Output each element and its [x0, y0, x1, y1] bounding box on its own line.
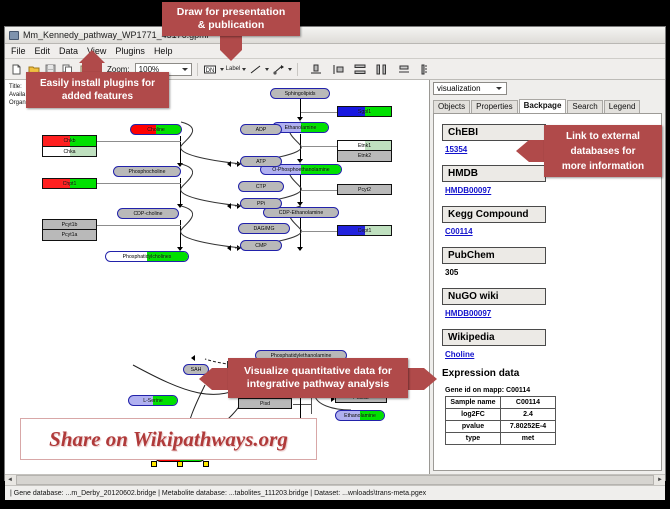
node-label: PPi [257, 201, 265, 207]
gene-link-sgpl1 [301, 112, 337, 113]
menu-edit[interactable]: Edit [34, 46, 52, 56]
node-phosphocholine[interactable]: Phosphocholine [113, 166, 181, 177]
node-ppi[interactable]: PPi [240, 198, 282, 209]
node-label: DAG/MG [253, 226, 274, 232]
menu-file[interactable]: File [10, 46, 27, 56]
node-label: CMP [255, 243, 267, 249]
align-left-icon[interactable] [330, 62, 345, 77]
stack-icon[interactable] [396, 62, 411, 77]
callout-draw-line2: & publication [198, 19, 265, 32]
callout-link-line2: databases for [570, 144, 635, 159]
tab-properties[interactable]: Properties [471, 100, 517, 113]
backpage-link-wikipedia[interactable]: Choline [445, 350, 661, 359]
scroll-thumb[interactable] [16, 475, 654, 485]
arrowhead [191, 355, 195, 361]
menu-data[interactable]: Data [58, 46, 79, 56]
node-dag-mg[interactable]: DAG/MG [238, 223, 290, 234]
cell-key: pvalue [446, 421, 501, 433]
gene-link-cept1 [301, 231, 337, 232]
meta-availability: Availa [9, 91, 27, 99]
node-etnk2[interactable]: Etnk2 [337, 151, 392, 162]
callout-link-line1: Link to external [566, 129, 640, 144]
status-bar: | Gene database: ...m_Derby_20120602.bri… [5, 485, 665, 500]
node-label: Phosphatidylcholines [123, 254, 172, 260]
backpage-heading-pubchem: PubChem [442, 247, 546, 264]
node-choline-top[interactable]: Choline [130, 124, 182, 135]
cell-value: met [501, 433, 556, 445]
node-label: Pisd [260, 401, 270, 407]
node-label: L-Serine [143, 398, 163, 404]
chevron-down-icon[interactable] [182, 68, 188, 71]
node-atp[interactable]: ATP [240, 156, 282, 167]
node-label: Etnk1 [358, 143, 371, 149]
node-phosphatidylcholines[interactable]: Phosphatidylcholines [105, 251, 189, 262]
callout-visualize: Visualize quantitative data for integrat… [228, 358, 408, 398]
callout-plugins-line1: Easily install plugins for [40, 77, 155, 90]
node-label: Phosphocholine [129, 169, 166, 175]
node-label: Sgpl1 [358, 109, 371, 115]
node-label: Chka [63, 149, 75, 155]
gene-link-chk [97, 141, 181, 142]
callout-draw-arrow [220, 50, 242, 61]
callout-plugins-arrow [79, 50, 105, 63]
node-pcyt1a[interactable]: Pcyt1a [42, 230, 97, 241]
meta-organism: Organi [9, 99, 27, 107]
expression-table: Sample name C00114 log2FC 2.4 pvalue 7.8… [445, 396, 556, 445]
callout-visualize-line2: integrative pathway analysis [247, 378, 389, 391]
node-label: ATP [256, 159, 266, 165]
backpage-link-nugo[interactable]: HMDB00097 [445, 309, 661, 318]
node-etnk1[interactable]: Etnk1 [337, 140, 392, 151]
node-chkb[interactable]: Chkb [42, 135, 97, 146]
tab-search[interactable]: Search [567, 100, 602, 113]
callout-visualize-stem-right [406, 368, 424, 390]
node-label: Chkb [63, 138, 75, 144]
node-label: CTP [256, 184, 266, 190]
node-chpt1[interactable]: Chpt1 [42, 178, 97, 189]
align-top-icon[interactable] [308, 62, 323, 77]
svg-text:DN: DN [206, 68, 215, 74]
node-label: Chpt1 [63, 181, 77, 187]
pisd-link [293, 404, 311, 405]
meta-title: Title: [9, 83, 27, 91]
group-icon[interactable] [418, 62, 433, 77]
node-label: Choline [147, 127, 165, 133]
cell-key: type [446, 433, 501, 445]
callout-plugins-line2: added features [62, 90, 133, 103]
selection-handle[interactable] [151, 461, 157, 467]
node-ctp[interactable]: CTP [238, 181, 284, 192]
callout-link-arrow [516, 140, 529, 162]
node-label: Pcyt1a [62, 232, 78, 238]
visualization-value: visualization [437, 84, 481, 93]
tab-legend[interactable]: Legend [604, 100, 641, 113]
table-row: log2FC 2.4 [446, 409, 556, 421]
node-label: Ethanolamine [285, 125, 317, 131]
status-text: | Gene database: ...m_Derby_20120602.bri… [10, 490, 426, 497]
arrowhead [227, 245, 231, 251]
node-pcyt1b[interactable]: Pcyt1b [42, 219, 97, 230]
backpage-heading-wikipedia: Wikipedia [442, 329, 546, 346]
backpage-heading-hmdb: HMDB [442, 165, 546, 182]
side-tabs: Objects Properties Backpage Search Legen… [433, 100, 662, 114]
cell-value: 2.4 [501, 409, 556, 421]
node-pcyt2[interactable]: Pcyt2 [337, 184, 392, 195]
node-cept1[interactable]: Cept1 [337, 225, 392, 236]
new-icon[interactable] [9, 62, 24, 77]
node-label: CDP-choline [133, 211, 162, 217]
node-l-serine-left[interactable]: L-Serine [128, 395, 178, 406]
scroll-left-icon[interactable]: ◄ [5, 476, 15, 485]
callout-draw-stem [220, 36, 242, 50]
selection-handle[interactable] [203, 461, 209, 467]
callout-share: Share on Wikipathways.org [20, 418, 317, 460]
tab-objects[interactable]: Objects [433, 100, 470, 113]
callout-share-text: Share on Wikipathways.org [49, 427, 288, 452]
app-icon [9, 30, 19, 40]
node-pisd[interactable]: Pisd [238, 398, 292, 409]
node-label: Etnk2 [358, 153, 371, 159]
backpage-heading-chebi: ChEBI [442, 124, 546, 141]
toolbar-separator [297, 63, 298, 76]
node-o-phosphoethanolamine[interactable]: O-Phosphoethanolamine [260, 164, 342, 175]
backpage-value-pubchem: 305 [445, 268, 661, 277]
scroll-right-icon[interactable]: ► [655, 476, 665, 485]
node-sgpl1[interactable]: Sgpl1 [337, 106, 392, 117]
chevron-down-icon[interactable] [288, 68, 292, 71]
horizontal-scrollbar[interactable]: ◄ ► [5, 474, 665, 485]
gene-id-line: Gene id on mapp: C00114 [445, 387, 661, 394]
gene-link-etnk [301, 146, 337, 147]
node-label: Pcyt2 [358, 187, 371, 193]
node-label: Ethanolamine [344, 413, 376, 419]
cell-value: 7.80252E-4 [501, 421, 556, 433]
node-label: CDP-Ethanolamine [279, 210, 323, 216]
table-row: Sample name C00114 [446, 397, 556, 409]
table-row: type met [446, 433, 556, 445]
cell-value: C00114 [501, 397, 556, 409]
menu-plugins[interactable]: Plugins [114, 46, 146, 56]
label-tool[interactable]: Label [226, 66, 241, 72]
node-sphingolipids[interactable]: Sphingolipids [270, 88, 330, 99]
line-tool-icon[interactable] [248, 62, 263, 77]
node-label: Pcyt1b [62, 222, 78, 228]
callout-plugins: Easily install plugins for added feature… [26, 72, 169, 108]
datanode-tool-icon[interactable]: DN [203, 62, 218, 77]
tab-backpage[interactable]: Backpage [519, 99, 567, 113]
callout-visualize-arrow-right [424, 368, 437, 390]
backpage-heading-nugo: NuGO wiki [442, 288, 546, 305]
node-chka[interactable]: Chka [42, 146, 97, 157]
callout-link: Link to external databases for more info… [544, 125, 662, 177]
pathway-meta: Title: Availa Organi [9, 83, 27, 107]
node-label: Sphingolipids [285, 91, 316, 97]
callout-draw: Draw for presentation & publication [162, 2, 300, 36]
callout-visualize-line1: Visualize quantitative data for [244, 365, 392, 378]
cell-key: Sample name [446, 397, 501, 409]
cell-key: log2FC [446, 409, 501, 421]
menu-help[interactable]: Help [153, 46, 174, 56]
interaction-tool-icon[interactable] [271, 62, 286, 77]
node-label: ADP [256, 127, 267, 133]
chevron-down-icon[interactable] [496, 87, 502, 90]
toolbar-separator [197, 63, 198, 76]
gene-link-pcyt1 [97, 225, 181, 226]
node-cmp[interactable]: CMP [240, 240, 282, 251]
node-label: O-Phosphoethanolamine [272, 167, 329, 173]
selection-handle[interactable] [177, 461, 183, 467]
title-bar: Mm_Kennedy_pathway_WP1771_45176.gpml [5, 27, 665, 44]
backpage-heading-kegg: Kegg Compound [442, 206, 546, 223]
node-adp[interactable]: ADP [240, 124, 282, 135]
distribute-horizontal-icon[interactable] [374, 62, 389, 77]
pathway-canvas[interactable]: Title: Availa Organi [5, 80, 430, 474]
backpage-link-kegg[interactable]: C00114 [445, 227, 661, 236]
expression-data-title: Expression data [442, 368, 661, 379]
gene-link-pcyt2 [301, 190, 337, 191]
callout-visualize-arrow-left [199, 368, 212, 390]
chevron-down-icon[interactable] [220, 68, 224, 71]
visualization-select[interactable]: visualization [433, 82, 507, 95]
callout-link-line3: more information [562, 159, 644, 174]
node-label: Cept1 [358, 228, 372, 234]
chevron-down-icon[interactable] [242, 68, 246, 71]
label-tool-text: Label [226, 66, 241, 72]
backpage-link-hmdb[interactable]: HMDB00097 [445, 186, 661, 195]
distribute-vertical-icon[interactable] [352, 62, 367, 77]
node-cdp-choline[interactable]: CDP-choline [117, 208, 179, 219]
table-row: pvalue 7.80252E-4 [446, 421, 556, 433]
gene-link-chpt1 [97, 183, 181, 184]
callout-draw-line1: Draw for presentation [177, 6, 286, 19]
node-ethanolamine-right[interactable]: Ethanolamine [335, 410, 385, 421]
chevron-down-icon[interactable] [265, 68, 269, 71]
